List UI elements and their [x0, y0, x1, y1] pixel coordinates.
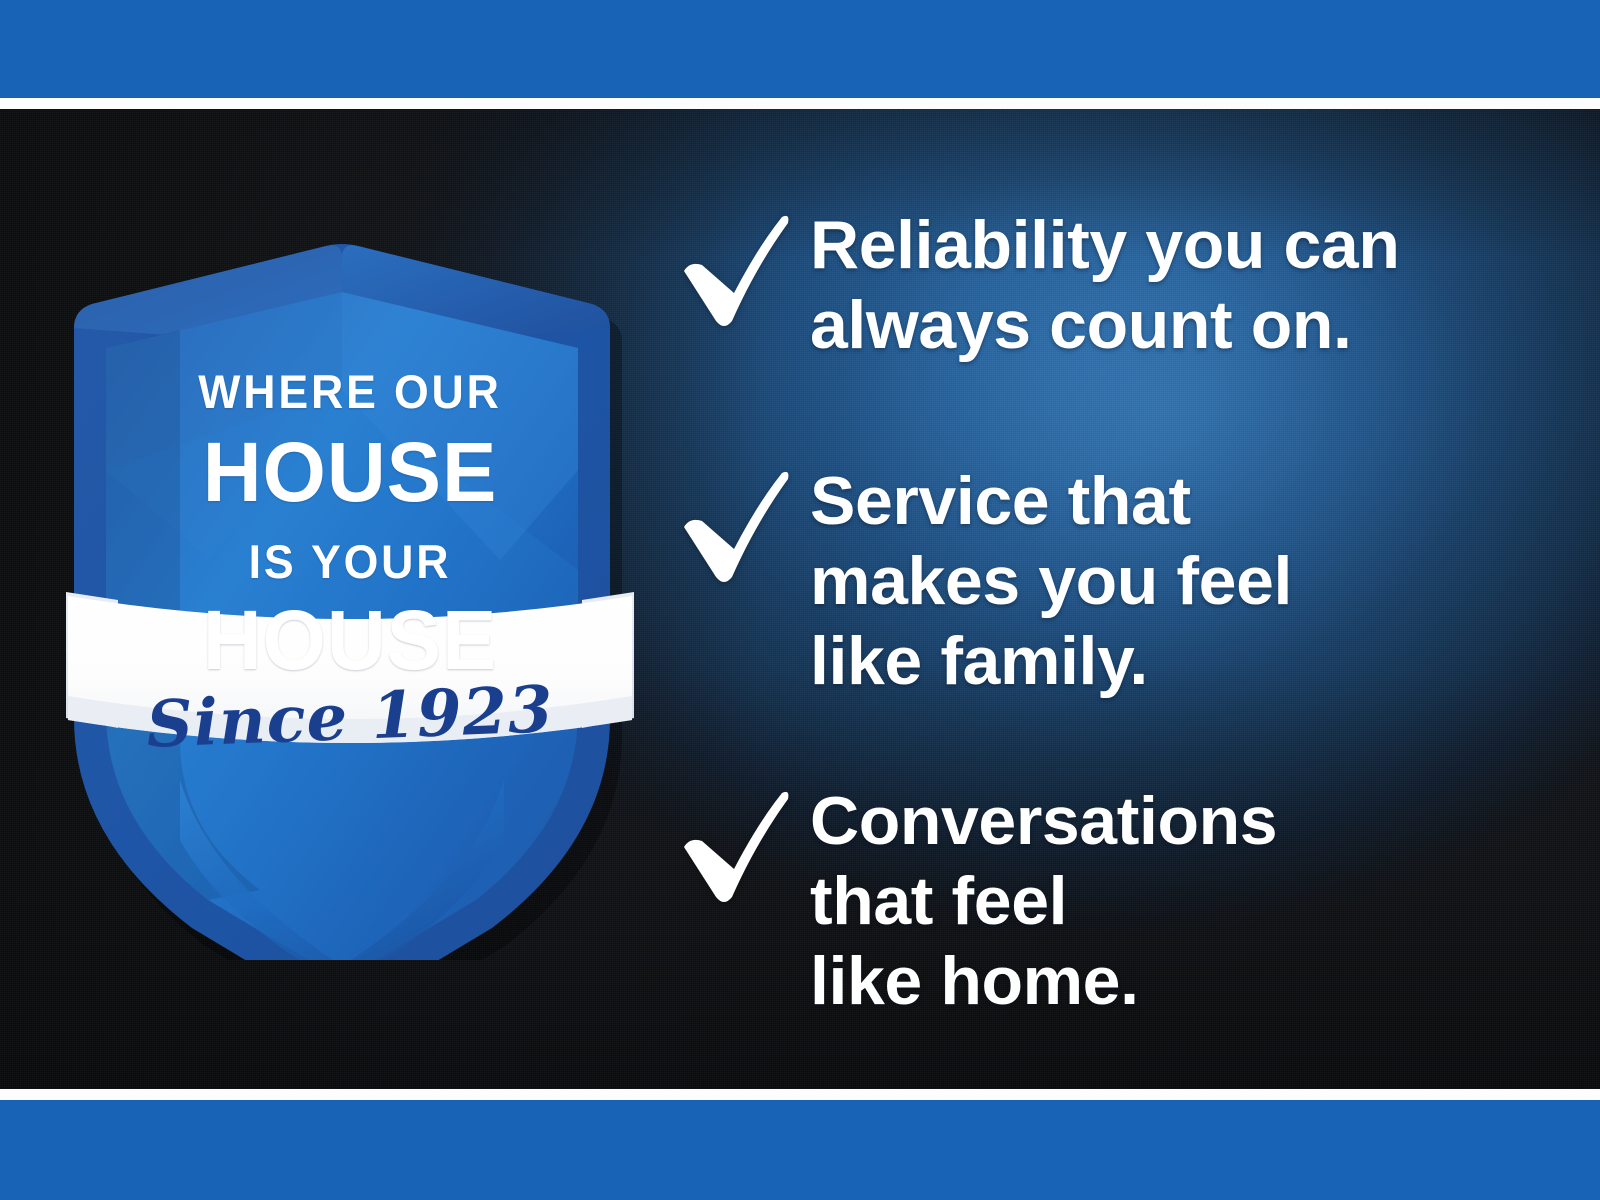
benefits-list: Reliability you can always count on. Ser…: [660, 109, 1560, 1089]
checkmark-icon: [660, 205, 810, 329]
benefit-text: Reliability you can always count on.: [810, 205, 1399, 365]
shield-graphic: [60, 140, 640, 960]
benefit-item-service: Service that makes you feel like family.: [660, 461, 1292, 701]
promo-graphic: WHERE OUR HOUSE IS YOUR HOUSE Since 1923…: [0, 0, 1600, 1200]
benefit-text: Service that makes you feel like family.: [810, 461, 1292, 701]
benefit-item-conversations: Conversations that feel like home.: [660, 781, 1277, 1021]
bottom-blue-bar: [0, 1100, 1600, 1200]
shield-badge: WHERE OUR HOUSE IS YOUR HOUSE Since 1923: [60, 140, 640, 960]
benefit-item-reliability: Reliability you can always count on.: [660, 205, 1399, 365]
bottom-white-divider: [0, 1089, 1600, 1100]
top-white-divider: [0, 98, 1600, 109]
benefit-text: Conversations that feel like home.: [810, 781, 1277, 1021]
checkmark-icon: [660, 781, 810, 905]
checkmark-icon: [660, 461, 810, 585]
top-blue-bar: [0, 0, 1600, 98]
